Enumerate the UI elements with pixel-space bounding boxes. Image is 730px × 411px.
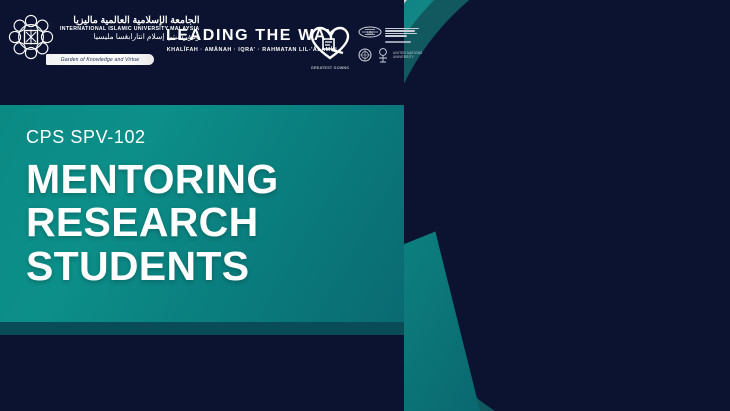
title-block: CPS SPV-102 MENTORING RESEARCH STUDENTS xyxy=(26,128,356,288)
page-title: MENTORING RESEARCH STUDENTS xyxy=(26,158,356,288)
slide-canvas: CPS SPV-102 MENTORING RESEARCH STUDENTS xyxy=(0,0,730,411)
header-bar: الجامعة الإسلامية العالمية ماليزيا INTER… xyxy=(0,0,730,85)
title-line-3: STUDENTS xyxy=(26,245,356,288)
partner-logos: UN xyxy=(358,26,434,70)
svg-text:UN: UN xyxy=(367,30,373,35)
iium-arabic-name: الجامعة الإسلامية العالمية ماليزيا xyxy=(60,16,200,26)
title-line-2: RESEARCH xyxy=(26,201,356,244)
un-university-label: UNITED NATIONS UNIVERSITY xyxy=(393,51,422,59)
bottom-navy-bar xyxy=(0,335,404,411)
title-panel-shadow xyxy=(0,322,404,335)
unesco-label-lines xyxy=(385,28,419,37)
iium-motto-text: Garden of Knowledge and Virtue xyxy=(61,57,139,63)
heart-ribbon-icon xyxy=(310,26,350,60)
un-university-logo: UNITED NATIONS UNIVERSITY xyxy=(358,47,434,63)
course-code: CPS SPV-102 xyxy=(26,128,356,146)
unesco-logo: UN xyxy=(358,26,434,38)
greatest-gowns-caption: GREATEST GOWNS xyxy=(310,66,350,70)
greatest-gowns-logo: GREATEST GOWNS xyxy=(310,26,350,70)
unesco-logo-icon: UN xyxy=(358,26,382,38)
iium-motto-banner: Garden of Knowledge and Virtue xyxy=(46,54,154,65)
title-line-1: MENTORING xyxy=(26,158,356,201)
un-emblem-icon xyxy=(358,48,372,62)
unu-mark-icon xyxy=(376,47,390,63)
